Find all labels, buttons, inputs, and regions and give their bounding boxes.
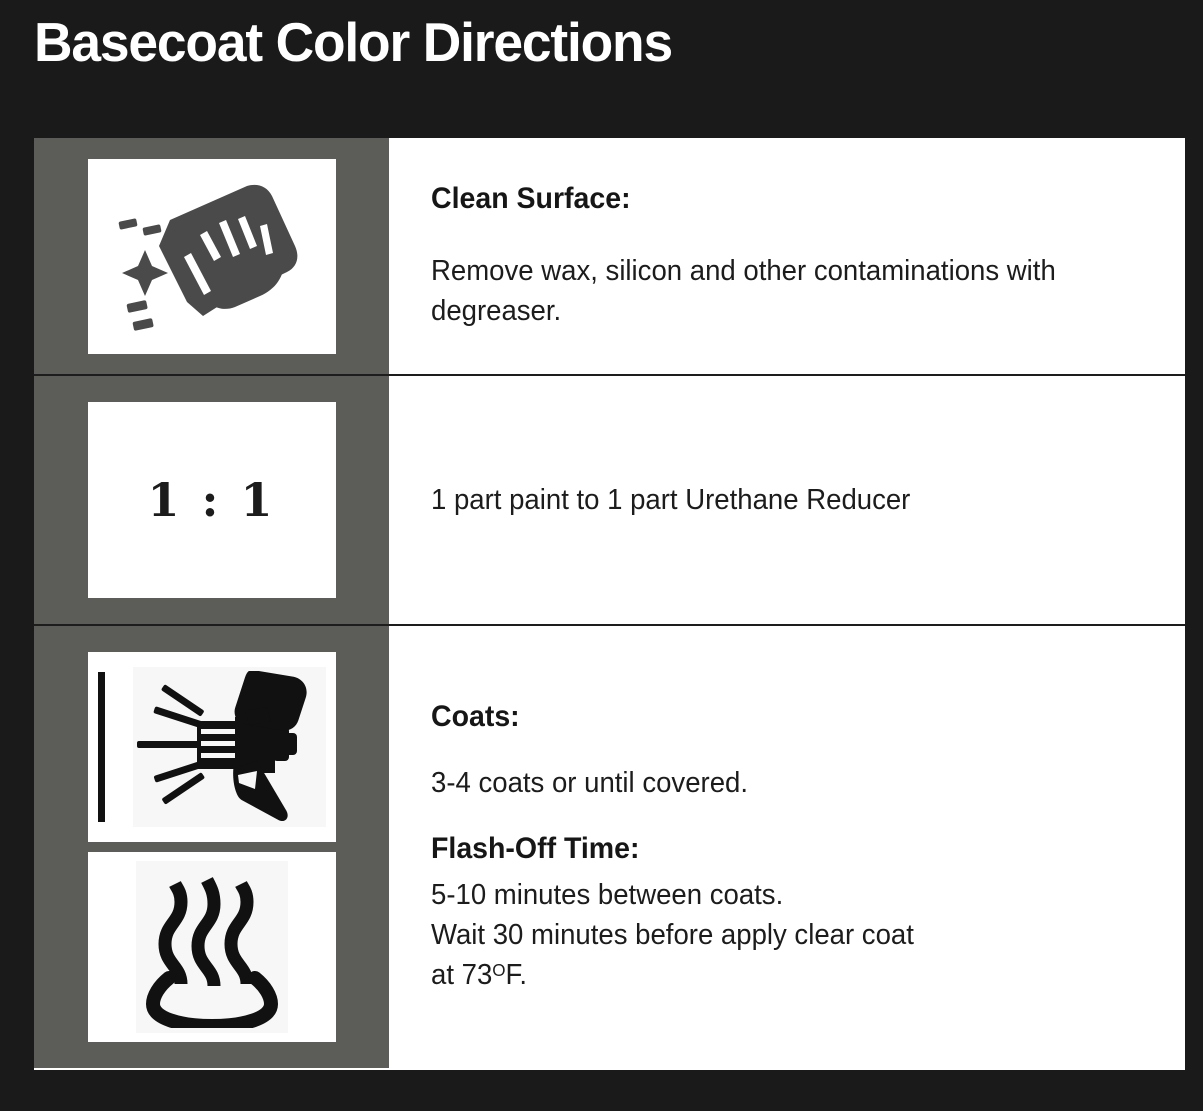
row-3-text-cell: Coats: 3-4 coats or until covered. Flash…: [389, 626, 1185, 1068]
table-row: Clean Surface: Remove wax, silicon and o…: [34, 138, 1185, 374]
directions-table: Clean Surface: Remove wax, silicon and o…: [34, 138, 1185, 1070]
row-3-body-coats: 3-4 coats or until covered.: [431, 763, 1121, 803]
row-1-text-cell: Clean Surface: Remove wax, silicon and o…: [389, 138, 1185, 374]
row-3-body-flashoff-line1: 5-10 minutes between coats.: [431, 875, 1121, 915]
spray-gun-image-area: [133, 667, 326, 827]
directions-card: Basecoat Color Directions: [0, 0, 1203, 1111]
row-2-text-cell: 1 part paint to 1 part Urethane Reducer: [389, 376, 1185, 624]
degree-symbol: O: [492, 960, 505, 980]
spray-gun-composition: [98, 662, 326, 832]
row-3-icon-cell: [34, 626, 389, 1068]
spray-gun-icon-glyph: [135, 671, 323, 823]
table-row: 1 : 1 1 part paint to 1 part Urethane Re…: [34, 374, 1185, 624]
mix-ratio-icon: 1 : 1: [88, 402, 336, 598]
clean-wipe-icon-glyph: [107, 174, 317, 339]
row-2-icon-cell: 1 : 1: [34, 376, 389, 624]
heat-flash-off-icon-glyph: [141, 866, 283, 1028]
temp-suffix: F.: [506, 959, 527, 991]
spacer: [431, 217, 1157, 251]
heat-flash-off-image-area: [136, 861, 288, 1033]
temp-prefix: at 73: [431, 959, 492, 991]
mix-ratio-label: 1 : 1: [147, 473, 275, 527]
page-title: Basecoat Color Directions: [34, 14, 672, 72]
clean-wipe-icon: [88, 159, 336, 354]
spacer: [431, 735, 1157, 763]
row-1-body: Remove wax, silicon and other contaminat…: [431, 251, 1121, 331]
row-2-body: 1 part paint to 1 part Urethane Reducer: [431, 480, 1121, 520]
spacer: [431, 867, 1157, 875]
spray-gun-icon: [88, 652, 336, 842]
row-3-body-flashoff-line3: at 73OF.: [431, 955, 1121, 995]
spacer: [431, 803, 1157, 831]
heat-flash-off-icon: [88, 852, 336, 1042]
row-3-heading-coats: Coats:: [431, 699, 1121, 735]
row-1-heading: Clean Surface:: [431, 181, 1121, 217]
row-1-icon-cell: [34, 138, 389, 374]
row-3-heading-flashoff: Flash-Off Time:: [431, 831, 1121, 867]
row-3-body-flashoff-line2: Wait 30 minutes before apply clear coat: [431, 915, 1121, 955]
spray-target-surface-bar: [98, 672, 105, 822]
table-row: Coats: 3-4 coats or until covered. Flash…: [34, 624, 1185, 1068]
